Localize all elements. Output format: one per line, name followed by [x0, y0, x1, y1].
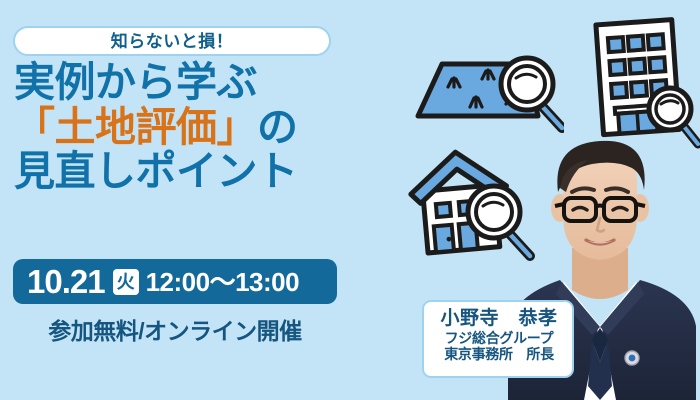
schedule-date: 10.21	[27, 265, 105, 298]
page-title: 実例から学ぶ 「土地評価」の 見直しポイント	[14, 60, 364, 194]
speaker-name-card: 小野寺 恭孝 フジ総合グループ 東京事務所 所長	[422, 300, 574, 378]
left-text-column: 知らないと損！ 実例から学ぶ 「土地評価」の 見直しポイント 10.21 火 1…	[0, 0, 380, 400]
speaker-title: 東京事務所 所長	[432, 346, 566, 362]
headline-open-bracket: 「	[14, 104, 55, 150]
speaker-name: 小野寺 恭孝	[432, 308, 566, 330]
schedule-bar: 10.21 火 12:00〜13:00	[13, 259, 337, 304]
subnote-label: 参加無料/オンライン開催	[14, 318, 336, 346]
webinar-banner: 知らないと損！ 実例から学ぶ 「土地評価」の 見直しポイント 10.21 火 1…	[0, 0, 700, 400]
land-plot-with-magnifier-icon	[414, 42, 564, 142]
headline-highlight-term: 土地評価	[55, 104, 217, 150]
speaker-organization: フジ総合グループ	[432, 330, 566, 346]
headline-line-2-tail: の	[257, 104, 298, 150]
headline-line-2: 「土地評価」の	[14, 105, 364, 150]
schedule-weekday-chip: 火	[113, 269, 139, 295]
eyebrow-badge-label: 知らないと損！	[111, 33, 234, 50]
eyebrow-badge: 知らないと損！	[13, 26, 331, 56]
headline-line-3: 見直しポイント	[14, 149, 364, 194]
headline-close-bracket: 」	[217, 104, 258, 150]
schedule-time: 12:00〜13:00	[146, 269, 300, 295]
headline-line-1: 実例から学ぶ	[14, 60, 364, 105]
